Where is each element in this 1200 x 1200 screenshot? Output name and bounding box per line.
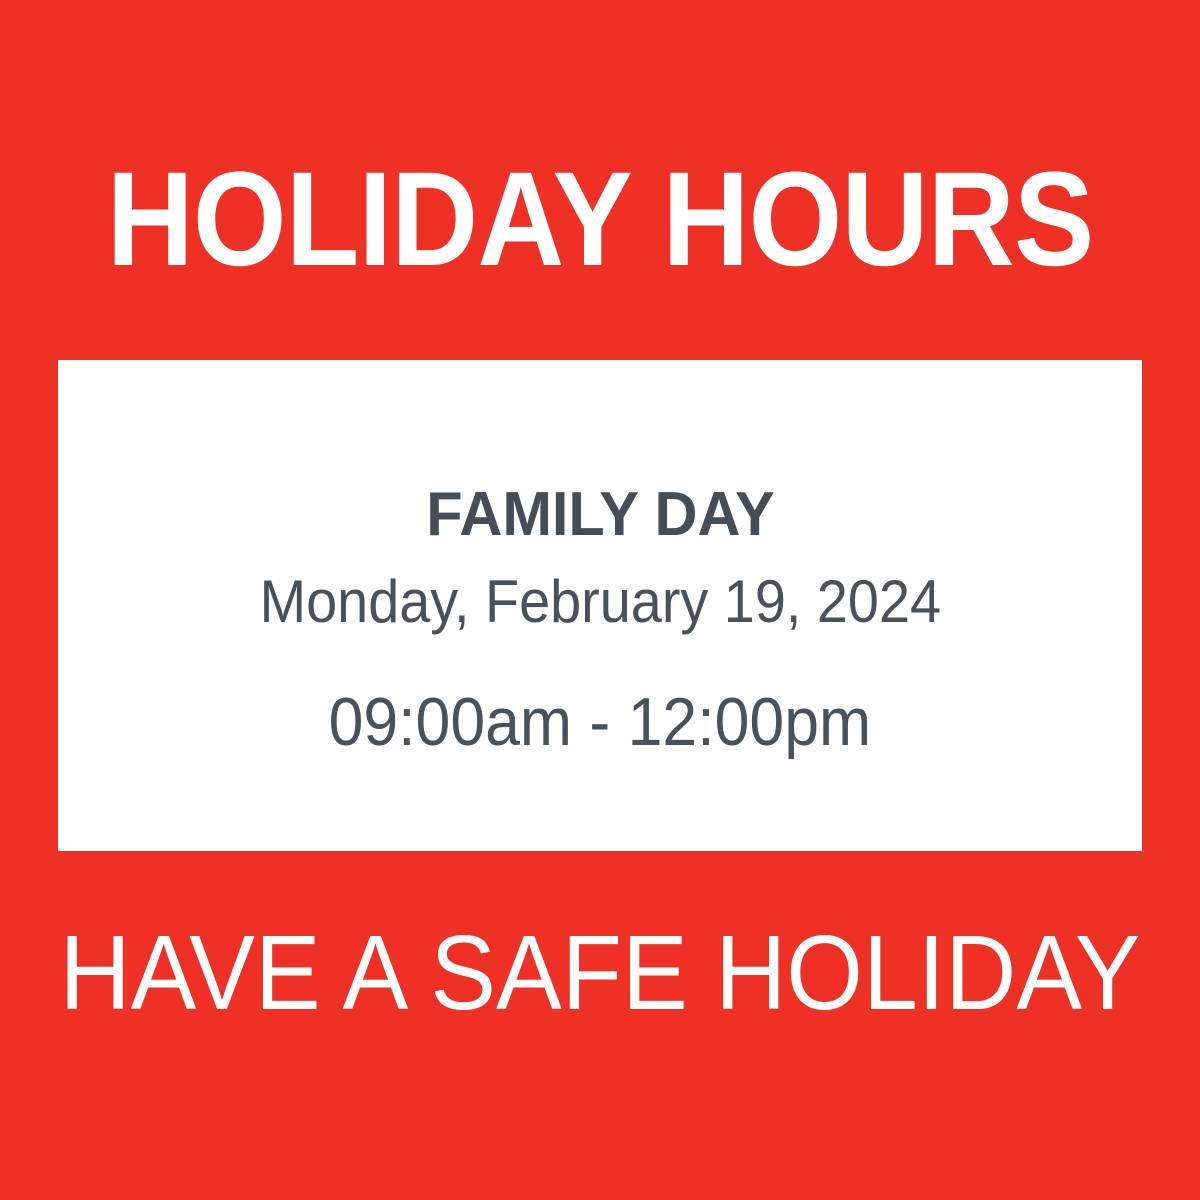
holiday-date: Monday, February 19, 2024 xyxy=(259,572,940,632)
holiday-info-card-content: FAMILY DAY Monday, February 19, 2024 09:… xyxy=(58,484,1142,756)
holiday-info-card: FAMILY DAY Monday, February 19, 2024 09:… xyxy=(58,360,1142,851)
holiday-hours-poster: HOLIDAY HOURS FAMILY DAY Monday, Februar… xyxy=(0,0,1200,1200)
holiday-name: FAMILY DAY xyxy=(426,484,774,546)
holiday-hours: 09:00am - 12:00pm xyxy=(329,688,872,756)
footer-message: HAVE A SAFE HOLIDAY xyxy=(42,915,1158,1030)
page-title: HOLIDAY HOURS xyxy=(60,150,1140,290)
